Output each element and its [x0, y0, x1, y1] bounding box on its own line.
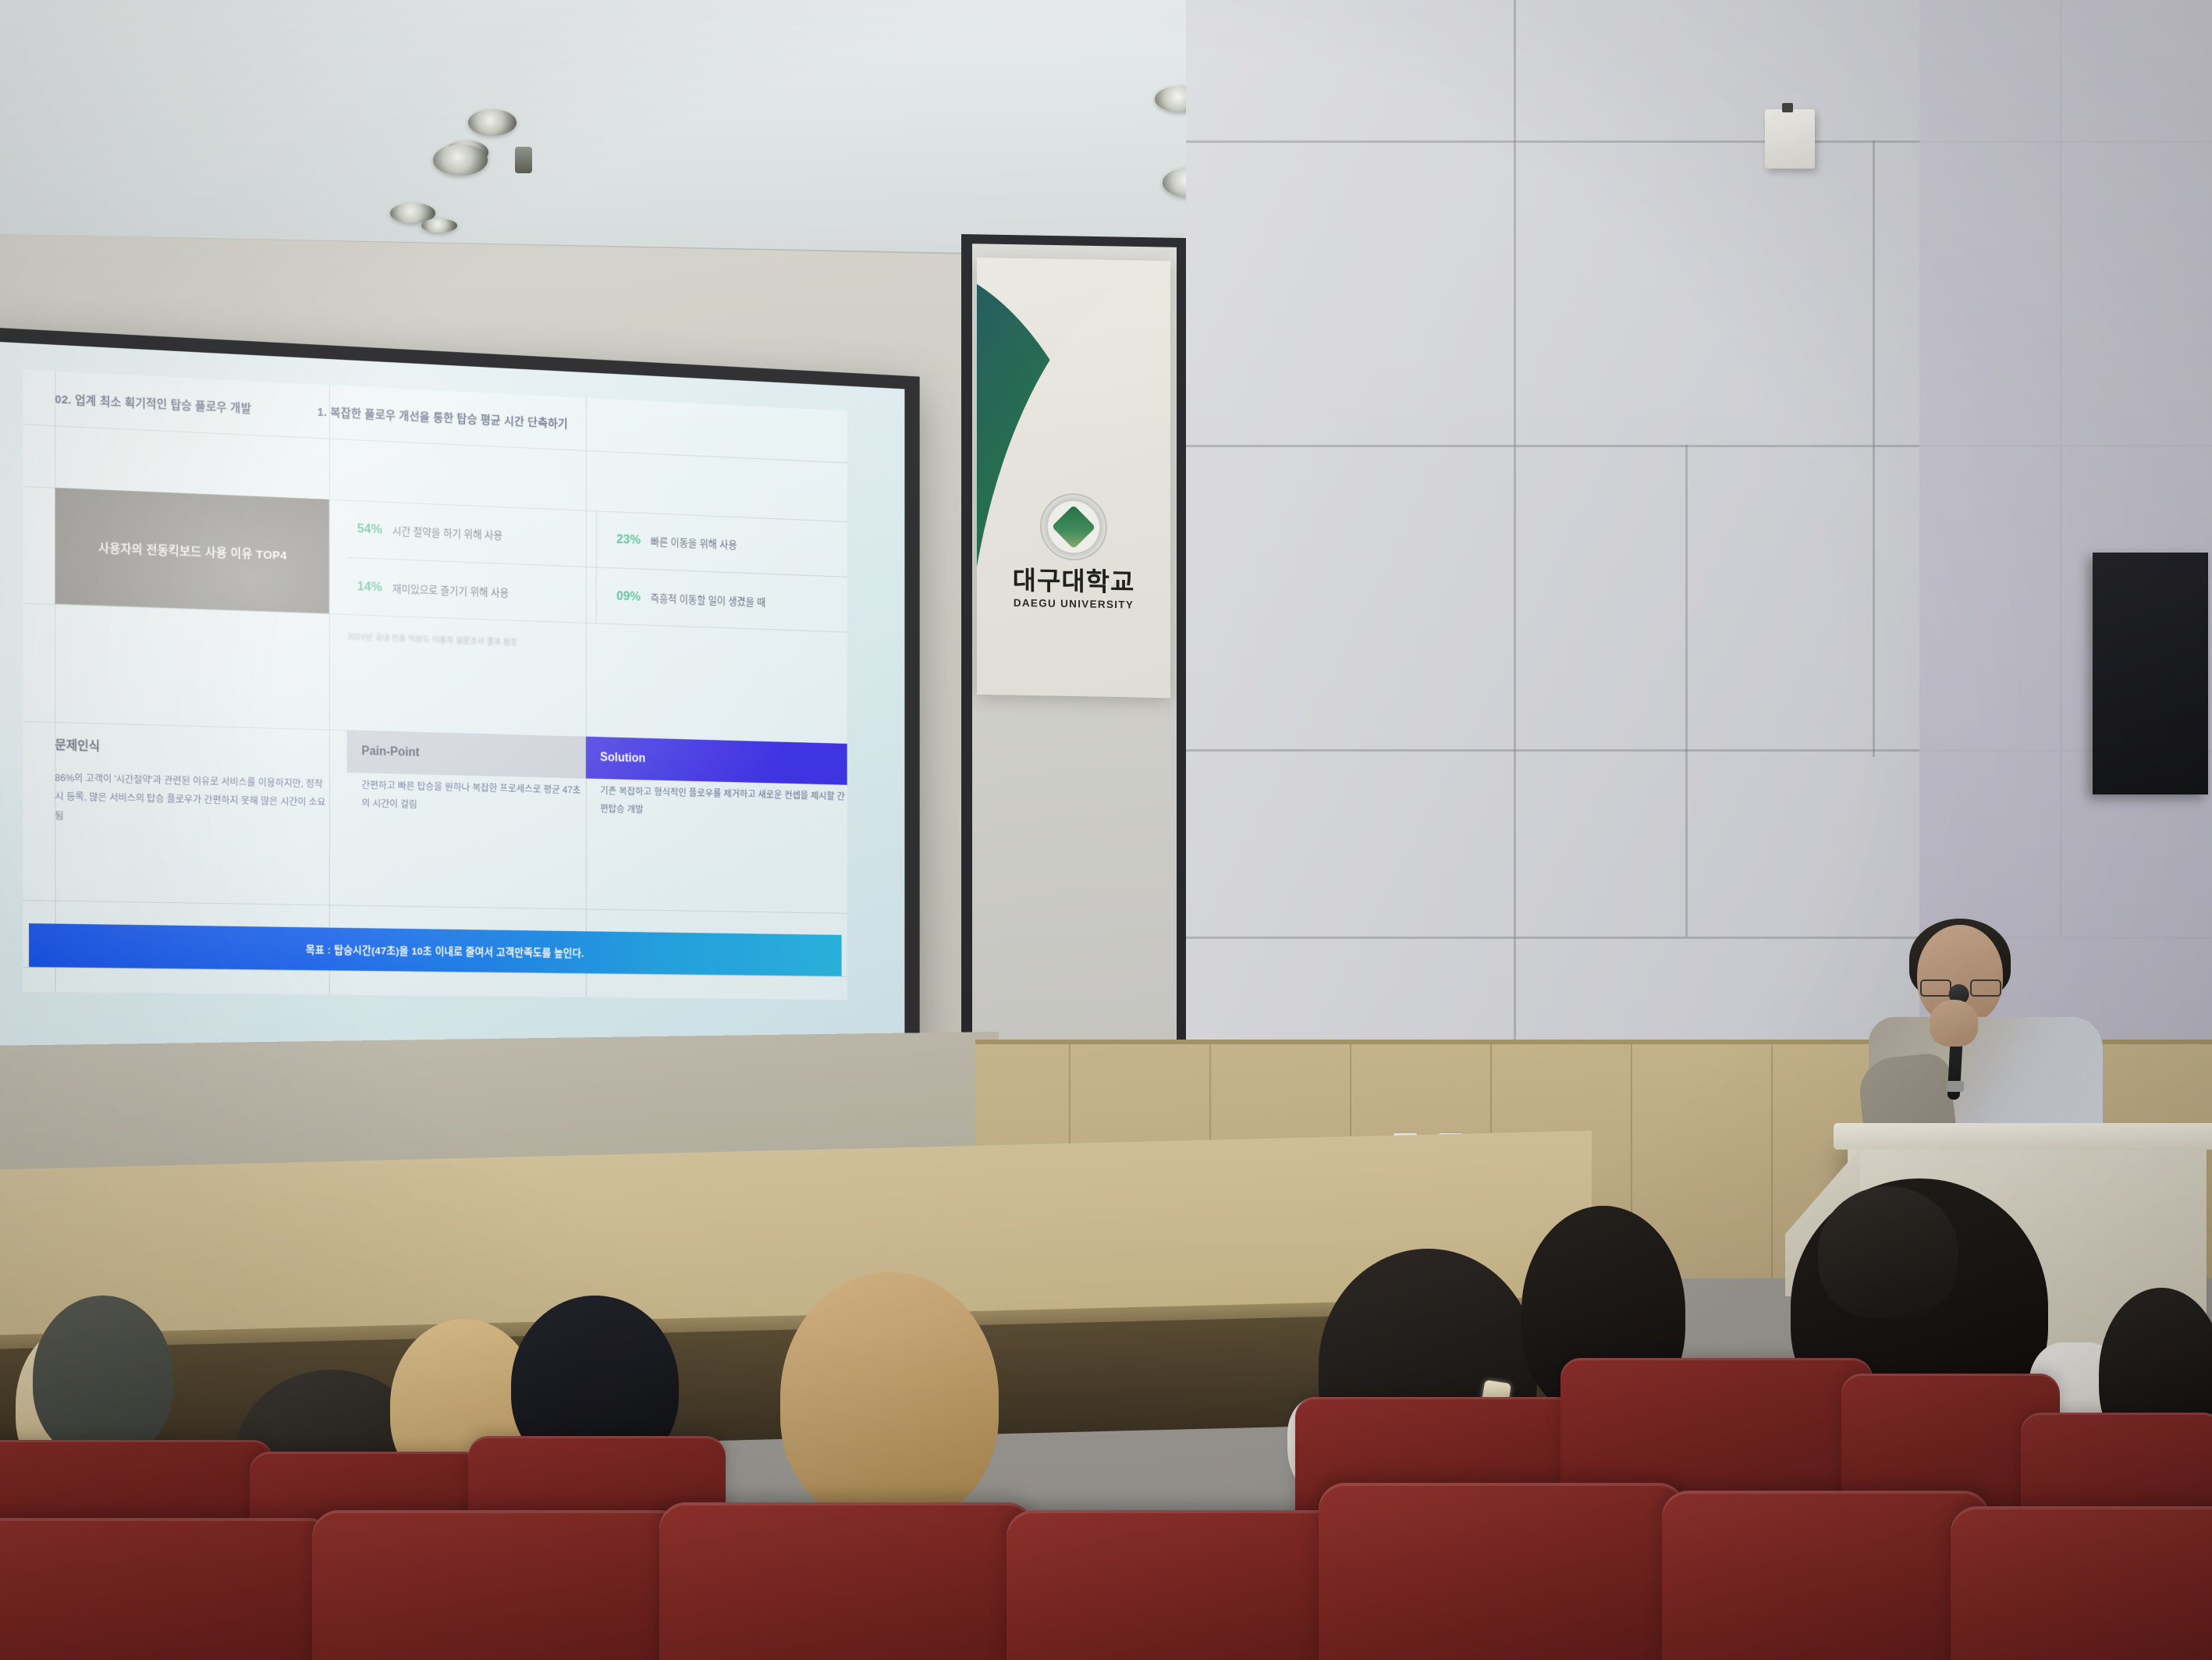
column-header-painpoint: Pain-Point: [347, 730, 586, 778]
stat-percent: 54%: [357, 521, 382, 538]
auditorium-seat: [1319, 1483, 1685, 1660]
reason-band: 사용자의 전동킥보드 사용 이유 TOP4 54% 시간 절약을 하기 위해 사…: [23, 486, 847, 632]
slide-section-label-cell: 02. 업계 최소 획기적인 탑승 플로우 개발: [23, 369, 298, 436]
stat-text: 시간 절약을 하기 위해 사용: [392, 523, 502, 542]
sprinkler-icon: [515, 147, 532, 173]
right-wall-shadow: [1919, 0, 2212, 1069]
column-body-problem: 86%의 고객이 '시간절약'과 관련된 이유로 서비스를 이용하지만, 정작시…: [55, 769, 328, 905]
stat-percent: 23%: [616, 532, 641, 548]
wall-speaker-icon: [2093, 553, 2208, 794]
auditorium-seat: [659, 1502, 1034, 1660]
auditorium-scene: 대구대학교 DAEGU UNIVERSITY: [0, 0, 2212, 1660]
projection-surface: 02. 업계 최소 획기적인 탑승 플로우 개발 1. 복잡한 플로우 개선을 …: [0, 341, 904, 1056]
slide-title-row: 02. 업계 최소 획기적인 탑승 플로우 개발 1. 복잡한 플로우 개선을 …: [23, 369, 847, 462]
slide-subsection-label: 1. 복잡한 플로우 개선을 통한 탑승 평균 시간 단축하기: [318, 403, 568, 431]
slide-source-note: 2024년 국내 전동 킥보드 이용자 설문조사 결과 참조: [347, 631, 819, 659]
stat-cell: 14% 재미있으로 즐기기 위해 사용: [347, 557, 596, 623]
column-body-painpoint: 간편하고 빠른 탑승을 원하나 복잡한 프로세스로 평균 47초의 시간이 걸림: [347, 776, 586, 909]
column-header-problem: 문제인식: [55, 722, 328, 772]
column-header-solution: Solution: [586, 737, 847, 785]
auditorium-seat: [312, 1510, 687, 1660]
reason-stats: 54% 시간 절약을 하기 위해 사용 23% 빠른 이동을 위해 사용: [347, 500, 847, 632]
stat-text: 즉흥적 이동할 일이 생겼을 때: [651, 590, 765, 610]
auditorium-seat: [1951, 1506, 2212, 1660]
stat-percent: 09%: [616, 588, 641, 604]
ceiling-downlight-icon: [468, 109, 517, 136]
university-crest-icon: [1040, 492, 1107, 561]
ceiling-downlight-icon: [433, 144, 488, 176]
projection-screen: 02. 업계 최소 획기적인 탑승 플로우 개발 1. 복잡한 플로우 개선을 …: [0, 326, 920, 1094]
banner-name-kr: 대구대학교: [977, 567, 1170, 595]
stat-cell: 54% 시간 절약을 하기 위해 사용: [347, 500, 596, 567]
audience-cap-icon: [33, 1296, 173, 1459]
slide-section-label: 02. 업계 최소 획기적인 탑승 플로우 개발: [55, 390, 251, 416]
stat-cell: 23% 빠른 이동을 위해 사용: [596, 510, 847, 576]
university-banner: 대구대학교 DAEGU UNIVERSITY: [977, 258, 1170, 698]
stat-text: 빠른 이동을 위해 사용: [651, 533, 737, 552]
audience-head: [1818, 1186, 1958, 1319]
podium-top-surface: [1834, 1123, 2212, 1150]
auditorium-seat: [0, 1518, 336, 1660]
reason-badge: 사용자의 전동킥보드 사용 이유 TOP4: [55, 488, 328, 614]
slide-subsection-label-cell: 1. 복잡한 플로우 개선을 통한 탑승 평균 시간 단축하기: [298, 383, 847, 462]
audience-head: [780, 1272, 999, 1522]
column-body-solution: 기존 복잡하고 형식적인 플로우를 제거하고 새로운 컨셉을 제시할 간편탑승 …: [586, 781, 847, 912]
stat-percent: 14%: [357, 578, 382, 595]
auditorium-seat: [1007, 1510, 1350, 1660]
ceiling-downlight-icon: [421, 219, 457, 233]
wall-sensor-box-icon: [1765, 109, 1815, 169]
presentation-slide: 02. 업계 최소 획기적인 탑승 플로우 개발 1. 복잡한 플로우 개선을 …: [23, 369, 847, 1000]
presenter-hand: [1930, 1000, 1978, 1047]
comparison-body-row: 86%의 고객이 '시간절약'과 관련된 이유로 서비스를 이용하지만, 정작시…: [23, 768, 847, 913]
goal-banner: 목표 : 탑승시간(47초)을 10초 이내로 줄여서 고객만족도를 높인다.: [29, 923, 842, 976]
stat-cell: 09% 즉흥적 이동할 일이 생겼을 때: [596, 567, 847, 632]
banner-swoosh-graphic: [977, 260, 1137, 698]
microphone-band: [1947, 1081, 1964, 1092]
stat-text: 재미있으로 즐기기 위해 사용: [392, 580, 509, 599]
auditorium-seat: [1662, 1491, 1990, 1660]
